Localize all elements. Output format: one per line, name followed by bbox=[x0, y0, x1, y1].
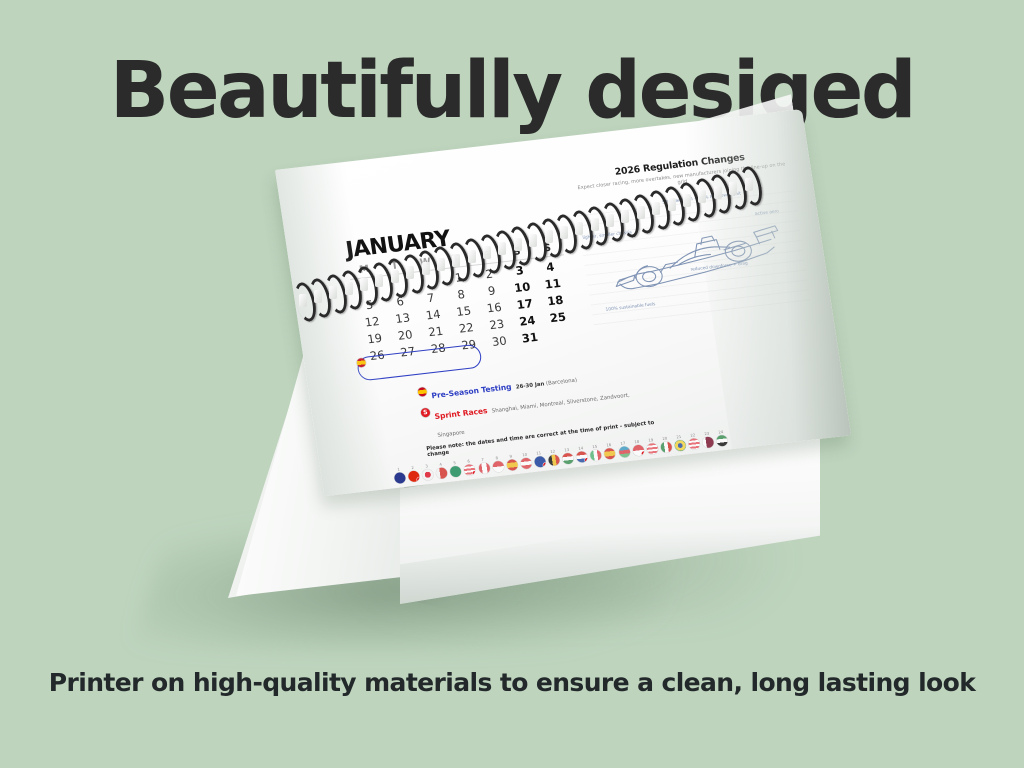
race-number: 16 bbox=[606, 442, 612, 448]
race-number: 5 bbox=[453, 460, 456, 465]
race-number: 22 bbox=[690, 432, 696, 438]
legend-subtitle: 26-30 Jan (Barcelona) bbox=[516, 378, 578, 391]
desk-calendar-product: JANUARY MTWTFSS ...123456789101112131415… bbox=[0, 0, 1024, 768]
race-number: 7 bbox=[481, 457, 484, 462]
day-cell: 20 bbox=[389, 327, 421, 343]
flag-icon-qa bbox=[702, 436, 715, 448]
weekday-header: T bbox=[379, 259, 411, 273]
flag-icon-mx bbox=[660, 441, 673, 453]
race-number: 4 bbox=[439, 462, 442, 467]
race-flag-item: 2 bbox=[407, 464, 420, 482]
callout-power-unit: 50% electrical + 50% ICE power unit bbox=[662, 192, 741, 206]
weekday-header: M bbox=[348, 263, 380, 277]
race-flag-item: 20 bbox=[659, 435, 672, 453]
race-flag-item: 7 bbox=[477, 456, 490, 474]
flag-icon-mc bbox=[492, 461, 505, 473]
spain-flag-icon bbox=[417, 387, 427, 397]
race-flag-item: 1 bbox=[393, 466, 406, 484]
race-number: 13 bbox=[564, 447, 570, 453]
race-flag-item: 24 bbox=[715, 429, 728, 447]
flag-icon-ae bbox=[716, 435, 729, 447]
flag-icon-sg bbox=[632, 444, 645, 456]
flag-icon-sa bbox=[450, 465, 463, 477]
race-number: 11 bbox=[536, 450, 542, 456]
race-number: 3 bbox=[425, 463, 428, 468]
sprint-race-pip bbox=[585, 458, 589, 463]
weekday-header: F bbox=[470, 248, 502, 262]
day-cell: 4 bbox=[534, 259, 566, 275]
race-flag-item: 19 bbox=[645, 437, 658, 455]
race-number: 12 bbox=[550, 449, 556, 455]
flag-icon-az bbox=[618, 446, 631, 458]
sprint-race-pip bbox=[417, 477, 421, 482]
day-cell: 1 bbox=[442, 270, 474, 286]
race-number: 17 bbox=[620, 440, 626, 446]
race-flag-item: 17 bbox=[617, 440, 630, 458]
flag-icon-au bbox=[394, 472, 407, 484]
day-cell: 17 bbox=[509, 296, 541, 312]
flag-icon-nl bbox=[576, 451, 589, 463]
day-cell: 12 bbox=[356, 314, 388, 330]
race-number: 8 bbox=[495, 455, 498, 460]
race-flag-item: 10 bbox=[519, 451, 532, 469]
race-number: 24 bbox=[718, 429, 724, 435]
race-flag-item: 5 bbox=[449, 459, 462, 477]
race-number: 15 bbox=[592, 444, 598, 450]
race-number: 1 bbox=[397, 466, 400, 471]
weekday-header: S bbox=[501, 245, 533, 259]
race-number: 14 bbox=[578, 445, 584, 451]
flag-icon-jp bbox=[422, 469, 435, 481]
day-cell: 10 bbox=[506, 280, 538, 296]
race-number: 21 bbox=[676, 434, 682, 440]
flag-icon-es bbox=[506, 459, 519, 471]
race-flag-item: 4 bbox=[435, 461, 448, 479]
flag-icon-us bbox=[464, 464, 477, 476]
day-cell: 31 bbox=[514, 330, 546, 346]
flag-icon-ca bbox=[478, 462, 491, 474]
day-cell: 7 bbox=[414, 290, 446, 306]
weekday-header: T bbox=[440, 252, 472, 266]
race-flag-item: 21 bbox=[673, 434, 686, 452]
flag-icon-gb bbox=[534, 456, 547, 468]
sprint-badge-icon bbox=[420, 408, 430, 418]
race-number: 10 bbox=[522, 452, 528, 458]
flag-icon-br bbox=[674, 439, 687, 451]
flag-icon-us bbox=[646, 443, 659, 455]
flag-icon-be bbox=[548, 454, 561, 466]
sprint-race-pip bbox=[543, 462, 547, 467]
race-flag-item: 22 bbox=[687, 432, 700, 450]
race-flag-item: 3 bbox=[421, 463, 434, 481]
race-flag-item: 11 bbox=[533, 450, 546, 468]
day-cell: 16 bbox=[478, 300, 510, 316]
race-number: 18 bbox=[634, 439, 640, 445]
day-cell: 9 bbox=[476, 283, 508, 299]
day-cell: 22 bbox=[450, 320, 482, 336]
race-flag-item: 15 bbox=[589, 443, 602, 461]
day-cell: 21 bbox=[420, 324, 452, 340]
race-flag-item: 12 bbox=[547, 448, 560, 466]
day-cell: 25 bbox=[542, 310, 574, 326]
sprint-race-pip bbox=[641, 451, 645, 456]
race-flag-item: 6 bbox=[463, 458, 476, 476]
day-cell: 11 bbox=[537, 276, 569, 292]
race-flag-item: 14 bbox=[575, 445, 588, 463]
day-cell: 15 bbox=[448, 303, 480, 319]
day-cell: 30 bbox=[483, 334, 515, 350]
day-cell: 5 bbox=[353, 297, 385, 313]
f1-car-icon bbox=[600, 202, 788, 309]
race-flag-item: 23 bbox=[701, 430, 714, 448]
weekday-header: S bbox=[531, 241, 563, 255]
regulation-illustration-canvas: lighter, smaller chassis 50% electrical … bbox=[576, 182, 811, 330]
race-number: 23 bbox=[704, 431, 710, 437]
day-cell: 2 bbox=[473, 266, 505, 282]
legend-title: Sprint Races bbox=[434, 406, 488, 421]
race-flag-item: 13 bbox=[561, 447, 574, 465]
flag-icon-at bbox=[520, 457, 533, 469]
race-number: 19 bbox=[648, 437, 654, 443]
race-flag-item: 9 bbox=[505, 453, 518, 471]
flag-icon-es bbox=[604, 448, 617, 460]
day-cell: 14 bbox=[417, 307, 449, 323]
race-flag-item: 8 bbox=[491, 455, 504, 473]
calendar-front-page: JANUARY MTWTFSS ...123456789101112131415… bbox=[275, 109, 851, 496]
weekday-header: W bbox=[409, 256, 441, 270]
sprint-race-pip bbox=[473, 470, 477, 475]
day-cell: 18 bbox=[539, 293, 571, 309]
race-flag-item: 18 bbox=[631, 438, 644, 456]
day-cell: 3 bbox=[504, 263, 536, 279]
flag-icon-bh bbox=[436, 467, 449, 479]
day-cell: 19 bbox=[359, 331, 391, 347]
race-number: 2 bbox=[411, 465, 414, 470]
race-number: 20 bbox=[662, 436, 668, 442]
day-cell: 23 bbox=[481, 317, 513, 333]
day-cell: 8 bbox=[445, 287, 477, 303]
flag-icon-cn bbox=[408, 470, 421, 482]
flag-icon-it bbox=[590, 449, 603, 461]
month-block: JANUARY MTWTFSS ...123456789101112131415… bbox=[344, 214, 577, 364]
day-cell: 24 bbox=[511, 313, 543, 329]
regulation-changes-block: 2026 Regulation Changes Expect closer ra… bbox=[571, 147, 811, 329]
race-flag-item: 16 bbox=[603, 442, 616, 460]
race-number: 6 bbox=[467, 458, 470, 463]
race-number: 9 bbox=[509, 454, 512, 459]
flag-icon-hu bbox=[562, 452, 575, 464]
day-cell: 6 bbox=[384, 294, 416, 310]
flag-icon-us bbox=[688, 438, 701, 450]
day-cell: 13 bbox=[386, 311, 418, 327]
